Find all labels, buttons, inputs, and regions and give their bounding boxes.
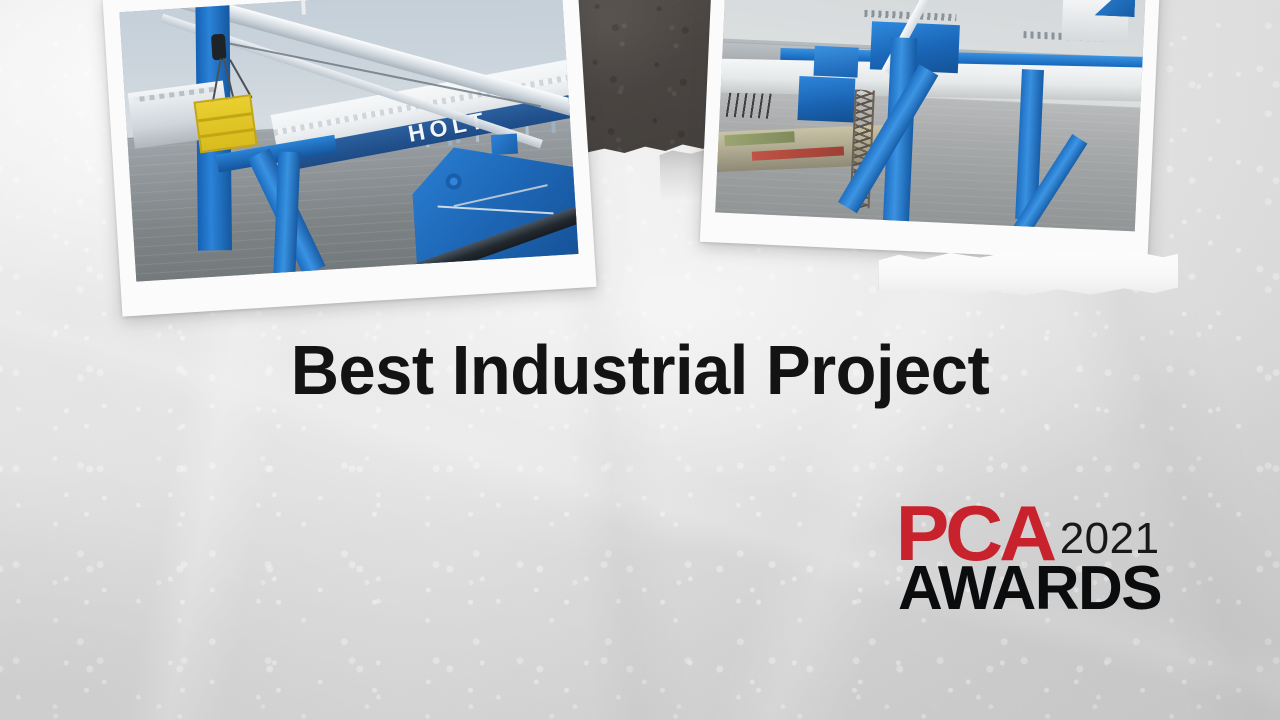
counterweight-notch [491, 133, 518, 155]
photo-left[interactable]: HOLT [102, 0, 596, 317]
photo-right[interactable] [700, 0, 1160, 262]
slide-canvas: HOLT [0, 0, 1280, 720]
yellow-lifting-cage [193, 94, 257, 153]
crane-hook-icon [211, 34, 227, 61]
transfer-chute [813, 45, 858, 77]
photo-right-image [715, 0, 1145, 231]
blue-hopper [797, 76, 855, 122]
page-title: Best Industrial Project [29, 333, 1251, 407]
logo-awards-text: AWARDS [898, 560, 1210, 617]
pca-awards-logo: PCA 2021 AWARDS [898, 494, 1210, 617]
photo-left-image: HOLT [119, 0, 578, 282]
ship-mast [300, 0, 306, 15]
